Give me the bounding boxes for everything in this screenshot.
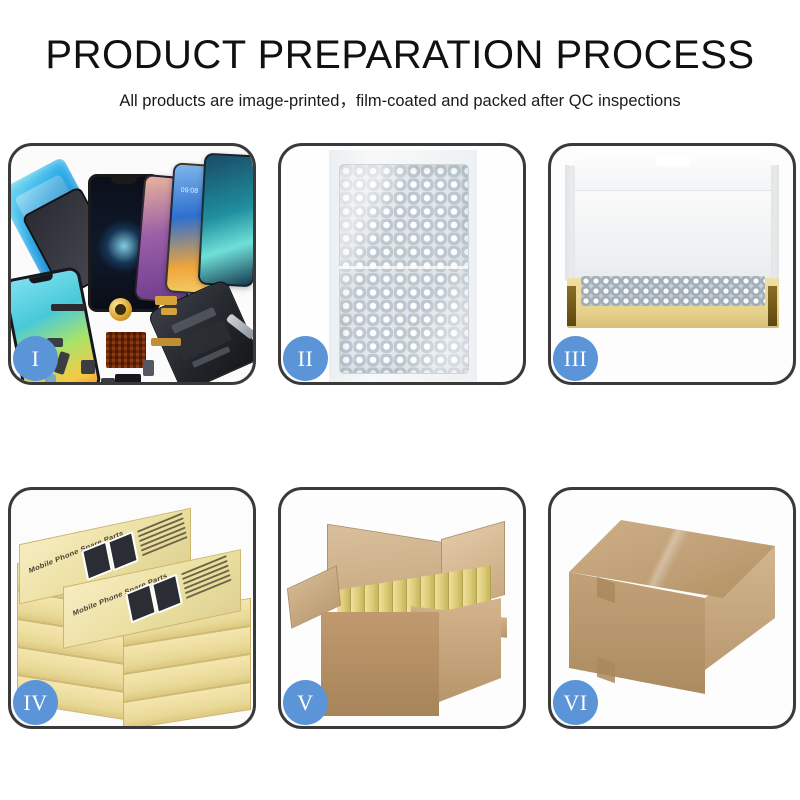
small-part-icon [81,360,95,374]
bubble-wrapped-contents-icon [581,276,765,306]
step-panel-open-carton: V [278,487,526,729]
product-preparation-process-page: PRODUCT PREPARATION PROCESS All products… [0,0,800,800]
flex-cable-icon [151,338,181,346]
step-panel-inner-box: III [548,143,796,385]
box-spec-lines [137,512,189,562]
carton-front-face [321,612,439,716]
tray-end-left [567,286,576,326]
small-part-icon [101,378,115,382]
step-panel-stacked-boxes: Mobile Phone Spare Parts Mobile Phone Sp… [8,487,256,729]
phone-clock-label: 09:08 [180,187,198,195]
step-panel-bubble-wrap: II [278,143,526,385]
step-badge-4: IV [13,680,58,725]
flex-cable-icon [161,308,177,315]
step-panel-phone-parts: 09:08 [8,143,256,385]
component-bar-icon [115,374,141,382]
box-spec-lines [181,555,233,605]
step-badge-6: VI [553,680,598,725]
step-badge-3: III [553,336,598,381]
page-title: PRODUCT PREPARATION PROCESS [0,34,800,76]
bubble-wrap-seam [339,266,467,269]
page-subtitle: All products are image-printed，film-coat… [0,87,800,111]
copper-grid-chip-icon [106,332,146,368]
carton-side-face [439,598,501,702]
bubble-wrap-pouch-icon [339,164,469,374]
white-box-lid-icon [575,160,771,286]
small-part-icon [143,360,154,376]
step-badge-5: V [283,680,328,725]
gold-coil-icon [109,298,132,321]
step-badge-1: I [13,336,58,381]
header: PRODUCT PREPARATION PROCESS All products… [0,0,800,111]
speaker-bar-icon [51,304,85,311]
teal-phone-icon [198,153,253,288]
step-panel-sealed-carton: VI [548,487,796,729]
lid-notch [656,157,690,166]
flex-cable-icon [155,296,177,305]
step-badge-2: II [283,336,328,381]
tray-end-right [768,286,777,326]
process-steps-grid: 09:08 [8,143,792,729]
